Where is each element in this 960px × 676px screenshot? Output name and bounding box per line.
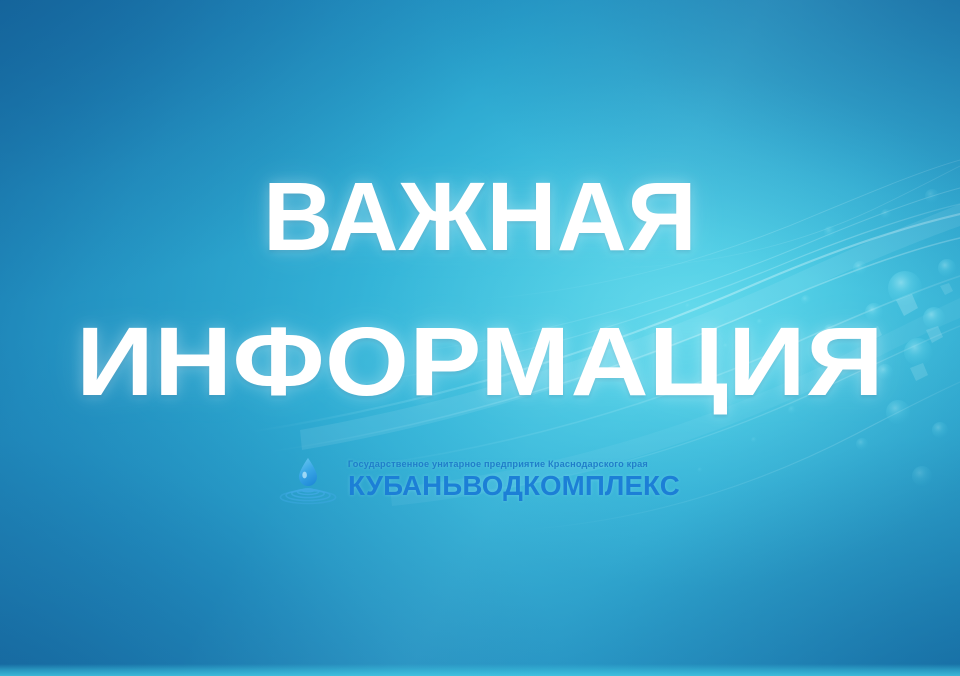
headline-line-2: ИНФОРМАЦИЯ (0, 313, 960, 410)
droplet-highlight (302, 472, 307, 479)
ripple-rings (280, 489, 335, 504)
important-information-poster: ВАЖНАЯ ИНФОРМАЦИЯ (0, 0, 960, 676)
headline-line-1: ВАЖНАЯ (0, 168, 960, 265)
logo-text-block: Государственное унитарное предприятие Кр… (348, 460, 683, 500)
bottom-highlight-strip (0, 664, 960, 676)
logo-tagline: Государственное унитарное предприятие Кр… (348, 460, 648, 469)
poster-headline: ВАЖНАЯ ИНФОРМАЦИЯ (0, 168, 960, 410)
logo-wordmark: КУБАНЬВОДКОМПЛЕКС (348, 472, 680, 500)
water-drop-ripple-icon (277, 455, 339, 505)
droplet-shape (299, 458, 317, 486)
company-logo: Государственное унитарное предприятие Кр… (0, 455, 960, 505)
